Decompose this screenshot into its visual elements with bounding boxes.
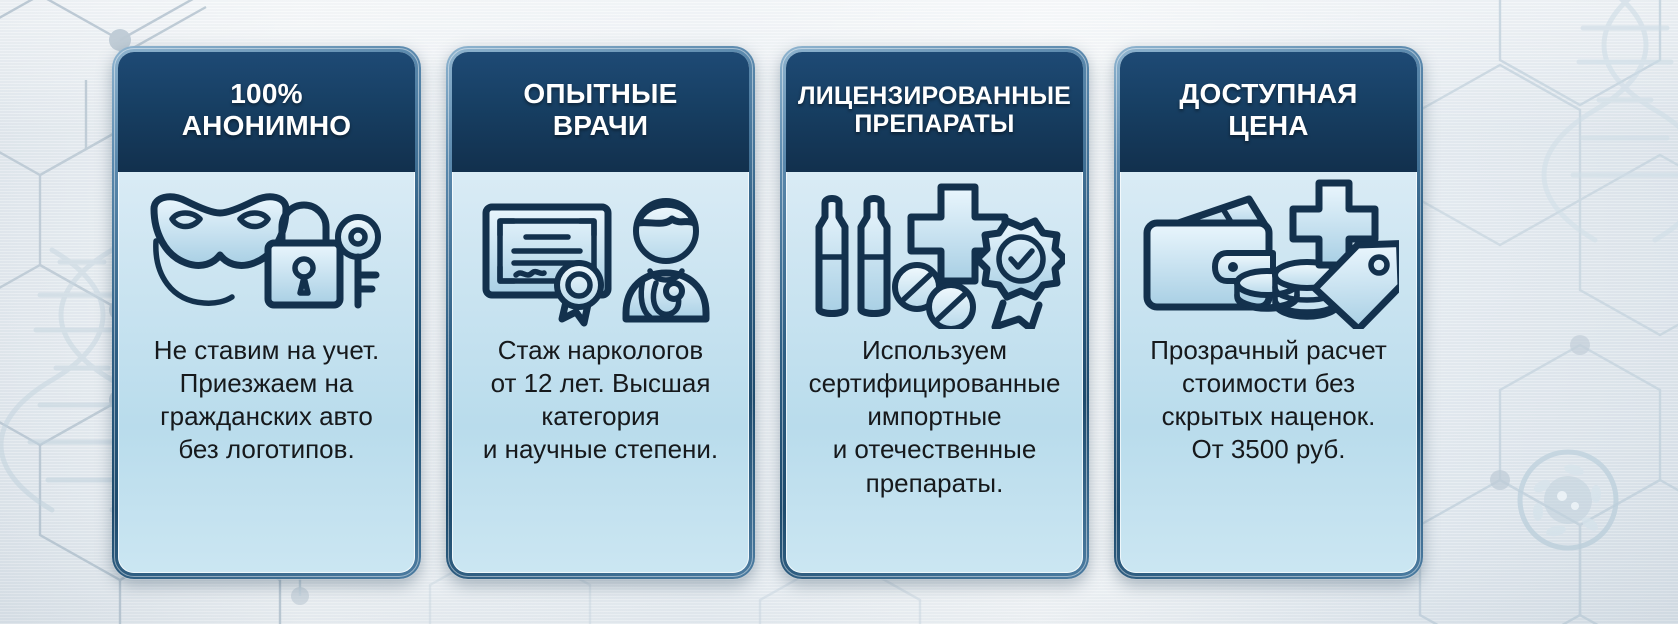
card-body: Прозрачный расчет стоимости без скрытых … [1120,332,1417,573]
card-title: ОПЫТНЫЕ ВРАЧИ [523,78,677,141]
promo-banner: 100% АНОНИМНО [0,0,1678,624]
card-icon-group [118,172,415,332]
feature-card-list: 100% АНОНИМНО [0,0,1678,624]
card-header: ОПЫТНЫЕ ВРАЧИ [452,52,749,172]
card-body: Не ставим на учет. Приезжаем на гражданс… [118,332,415,573]
key-icon [338,217,378,305]
card-title: ЛИЦЕНЗИРОВАННЫЕ ПРЕПАРАТЫ [798,82,1071,138]
card-title: 100% АНОНИМНО [182,78,352,141]
feature-card-licensed-drugs[interactable]: ЛИЦЕНЗИРОВАННЫЕ ПРЕПАРАТЫ [780,46,1089,579]
feature-card-affordable-price[interactable]: ДОСТУПНАЯ ЦЕНА [1114,46,1423,579]
card-header: 100% АНОНИМНО [118,52,415,172]
card-header: ДОСТУПНАЯ ЦЕНА [1120,52,1417,172]
quality-rosette-icon [977,221,1065,329]
ampoule-icon [819,198,887,313]
card-description: Используем сертифицированные импортные и… [809,334,1061,500]
card-description: Стаж наркологов от 12 лет. Высшая катего… [483,334,718,467]
card-icon-group [1120,172,1417,332]
card-icon-group [786,172,1083,332]
card-body: Стаж наркологов от 12 лет. Высшая катего… [452,332,749,573]
card-description: Прозрачный расчет стоимости без скрытых … [1150,334,1387,467]
ribbon-seal [557,263,601,323]
card-body: Используем сертифицированные импортные и… [786,332,1083,573]
card-title: ДОСТУПНАЯ ЦЕНА [1179,78,1357,141]
card-icon-group [452,172,749,332]
card-description: Не ставим на учет. Приезжаем на гражданс… [154,334,379,467]
doctor-stethoscope-icon [626,201,706,319]
certificate-icon [486,207,608,323]
card-header: ЛИЦЕНЗИРОВАННЫЕ ПРЕПАРАТЫ [786,52,1083,172]
feature-card-anonymity[interactable]: 100% АНОНИМНО [112,46,421,579]
feature-card-experienced-doctors[interactable]: ОПЫТНЫЕ ВРАЧИ [446,46,755,579]
